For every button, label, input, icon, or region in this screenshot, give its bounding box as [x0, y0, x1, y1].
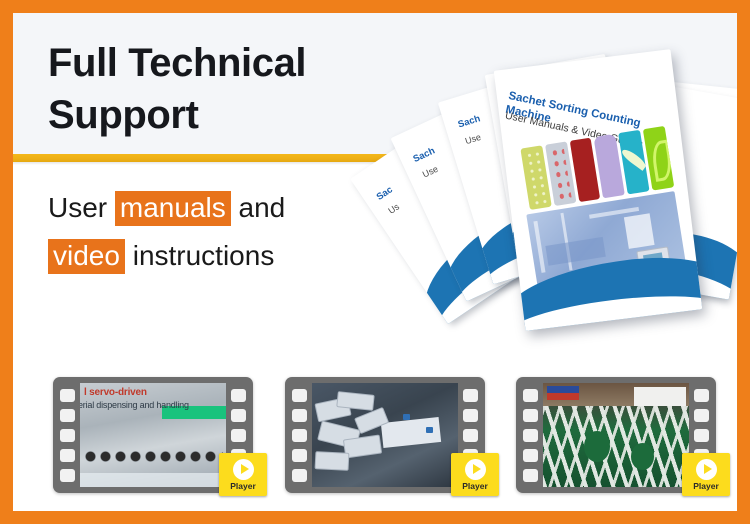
page-title: Full Technical Support	[48, 37, 388, 141]
play-button[interactable]: Player	[451, 453, 499, 496]
video-thumbnail-row: l servo-driven erial dispensing and hand…	[13, 377, 737, 497]
headline-line-1: Full Technical	[48, 41, 306, 85]
video-thumbnail-sachet-strips[interactable]: Player	[516, 377, 716, 493]
play-button[interactable]: Player	[219, 453, 267, 496]
booklet-front-cover: Sachet Sorting Counting Machine User Man…	[494, 49, 703, 331]
video-screen: l servo-driven erial dispensing and hand…	[80, 383, 226, 487]
subtitle-highlight-manuals: manuals	[115, 191, 231, 226]
subtitle-text-and: and	[231, 192, 286, 223]
play-icon	[233, 459, 254, 480]
play-icon	[465, 459, 486, 480]
booklet-subtitle: Use	[421, 164, 440, 180]
booklet-subtitle: Us	[386, 201, 401, 215]
subtitle-text-instructions: instructions	[125, 240, 274, 271]
play-button-label: Player	[230, 481, 256, 491]
video-overlay-line-2: erial dispensing and handling	[80, 400, 189, 410]
video-artwork-conveyor: l servo-driven erial dispensing and hand…	[80, 383, 226, 487]
subtitle-row-1: User manuals and	[48, 184, 408, 232]
video-overlay-line-1: l servo-driven	[84, 387, 147, 398]
booklet-subtitle: Use	[464, 132, 482, 146]
video-thumbnail-sachet-pile[interactable]: Player	[285, 377, 485, 493]
video-screen	[543, 383, 689, 487]
subtitle-row-2: video instructions	[48, 232, 408, 280]
booklet-title: Sac	[375, 184, 395, 203]
subtitle-text-user: User	[48, 192, 115, 223]
video-artwork-strips	[543, 383, 689, 487]
play-button-label: Player	[462, 481, 488, 491]
booklet-title: Sach	[457, 113, 482, 130]
play-icon	[696, 459, 717, 480]
subtitle: User manuals and video instructions	[48, 184, 408, 280]
film-perforations-left	[57, 385, 78, 485]
video-screen	[312, 383, 458, 487]
play-button-label: Player	[693, 481, 719, 491]
play-button[interactable]: Player	[682, 453, 730, 496]
film-perforations-left	[520, 385, 541, 485]
headline-line-2: Support	[48, 89, 388, 141]
video-corner-label	[547, 386, 579, 400]
booklet-title: Sach	[412, 145, 437, 165]
booklet-stack: Sac Us Sach Use Sach Use Sache User	[381, 23, 721, 333]
video-artwork-sachets	[312, 383, 458, 487]
subtitle-highlight-video: video	[48, 239, 125, 274]
video-thumbnail-servo-driven[interactable]: l servo-driven erial dispensing and hand…	[53, 377, 253, 493]
film-perforations-left	[289, 385, 310, 485]
promo-banner: Full Technical Support User manuals and …	[0, 0, 750, 524]
